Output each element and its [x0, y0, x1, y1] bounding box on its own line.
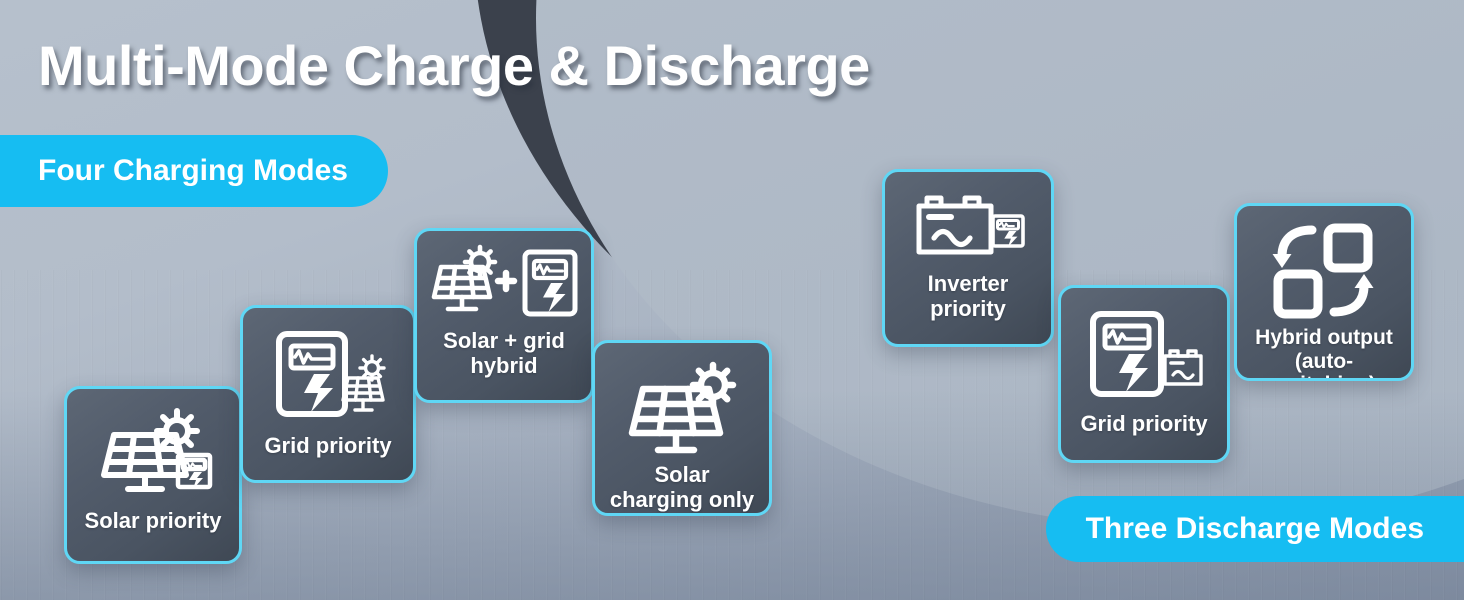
card-hybrid-output-label: Hybrid output (auto-switching): [1237, 326, 1411, 381]
card-solar-grid-hybrid-label-line2: hybrid: [470, 353, 537, 378]
auto-switch-arrows-icon: [1237, 224, 1411, 318]
card-solar-charging-only-label-line1: Solar: [654, 462, 709, 487]
battery-sine-inverter-icon: [885, 190, 1051, 260]
card-solar-grid-hybrid-label: Solar + grid hybrid: [437, 329, 571, 378]
card-grid-priority-charging[interactable]: Grid priority: [240, 305, 416, 483]
solar-plus-inverter-icon: [417, 247, 591, 321]
promo-banner: Multi-Mode Charge & Discharge Four Charg…: [0, 0, 1464, 600]
card-solar-grid-hybrid[interactable]: Solar + grid hybrid: [414, 228, 594, 403]
card-hybrid-output[interactable]: Hybrid output (auto-switching): [1234, 203, 1414, 381]
solar-panel-sun-icon: [595, 365, 769, 453]
card-solar-grid-hybrid-label-line1: Solar + grid: [443, 328, 565, 353]
card-grid-priority-discharge-label: Grid priority: [1074, 412, 1213, 437]
charging-modes-pill-label: Four Charging Modes: [38, 154, 348, 188]
card-inverter-priority-label: Inverter priority: [922, 272, 1015, 321]
card-hybrid-output-label-line2: (auto-switching): [1272, 350, 1376, 381]
solar-panel-sun-inverter-icon: [67, 411, 239, 495]
discharge-modes-pill-label: Three Discharge Modes: [1086, 512, 1424, 546]
card-inverter-priority[interactable]: Inverter priority: [882, 169, 1054, 347]
charging-modes-pill: Four Charging Modes: [0, 135, 388, 207]
card-solar-charging-only-label: Solar charging only: [604, 463, 760, 512]
card-grid-priority-discharge[interactable]: Grid priority: [1058, 285, 1230, 463]
inverter-solar-panel-icon: [243, 328, 413, 420]
card-inverter-priority-label-line2: priority: [930, 296, 1006, 321]
discharge-modes-pill: Three Discharge Modes: [1046, 496, 1464, 562]
card-inverter-priority-label-line1: Inverter: [928, 271, 1009, 296]
page-title: Multi-Mode Charge & Discharge: [38, 33, 870, 98]
card-solar-priority-label: Solar priority: [79, 509, 228, 534]
card-hybrid-output-label-line1: Hybrid output: [1255, 326, 1393, 349]
card-solar-charging-only-label-line2: charging only: [610, 487, 754, 512]
card-solar-priority[interactable]: Solar priority: [64, 386, 242, 564]
card-solar-charging-only[interactable]: Solar charging only: [592, 340, 772, 516]
card-grid-priority-charging-label: Grid priority: [258, 434, 397, 459]
inverter-battery-icon: [1061, 308, 1227, 400]
